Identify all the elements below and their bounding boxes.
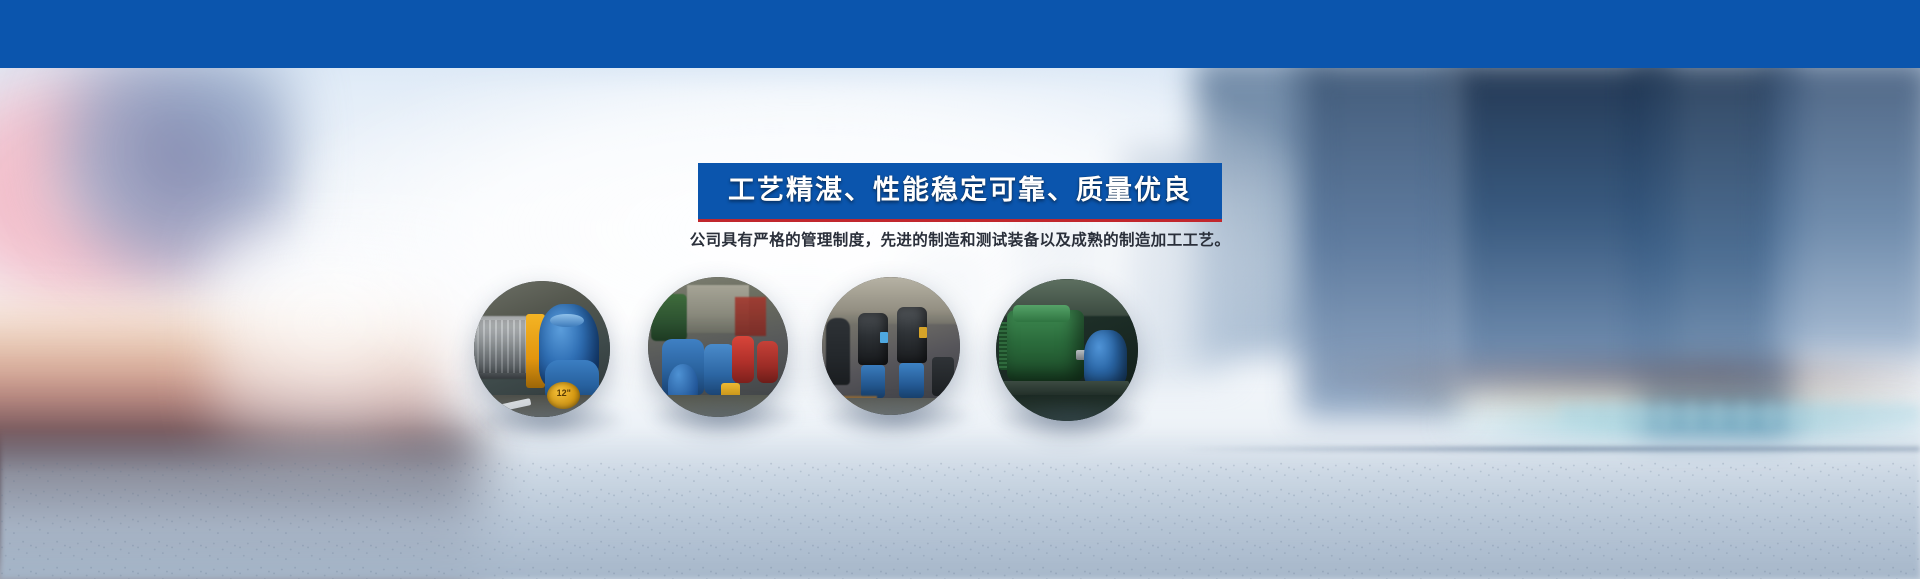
- product-circle-split-case-pump[interactable]: 12": [474, 281, 610, 417]
- circle-shadow-1: [478, 404, 624, 438]
- product-circle-gallery: 12": [0, 0, 1920, 579]
- circle-shadow-4: [998, 402, 1144, 436]
- product-circle-vertical-inline-pumps[interactable]: [822, 277, 960, 415]
- circle-shadow-2: [652, 400, 798, 434]
- circle-shadow-3: [824, 400, 970, 434]
- split-case-pump-photo: 12": [474, 281, 610, 417]
- vertical-inline-pumps-photo: [822, 277, 960, 415]
- pump-size-label: 12": [547, 388, 580, 402]
- hero-subtitle: 公司具有严格的管理制度，先进的制造和测试装备以及成熟的制造加工工艺。: [0, 228, 1920, 250]
- product-circle-diesel-engine-pump-set[interactable]: [996, 279, 1138, 421]
- diesel-engine-pump-set-photo: [996, 279, 1138, 421]
- product-circle-centrifugal-pump-row[interactable]: [648, 277, 788, 417]
- hero-banner: 12": [0, 0, 1920, 579]
- centrifugal-pump-row-photo: [648, 277, 788, 417]
- hero-headline-wrap: 工艺精湛、性能稳定可靠、质量优良: [0, 163, 1920, 222]
- site-header-bar[interactable]: [0, 0, 1920, 68]
- hero-headline: 工艺精湛、性能稳定可靠、质量优良: [698, 163, 1222, 222]
